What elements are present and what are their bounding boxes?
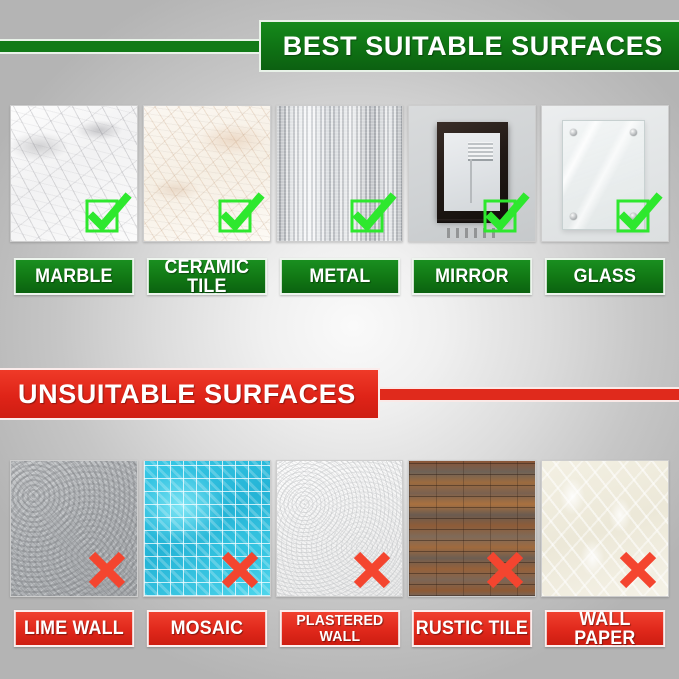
unsuitable-cell-mosaic <box>143 460 271 597</box>
unsuitable-cell-rustic-tile <box>408 460 536 597</box>
tile-image-glass <box>541 105 669 242</box>
unsuitable-cell-plastered-wall <box>276 460 404 597</box>
tile-image-metal <box>276 105 404 242</box>
cross-mark-icon <box>481 548 529 592</box>
label-marble: MARBLE <box>14 258 134 295</box>
unsuitable-banner-row: UNSUITABLE SURFACES <box>0 370 679 418</box>
suitable-tile-grid <box>10 105 669 242</box>
check-mark-icon <box>348 193 396 237</box>
unsuitable-heading: UNSUITABLE SURFACES <box>0 368 380 420</box>
label-glass: GLASS <box>545 258 665 295</box>
glass-screw-icon <box>630 129 637 136</box>
suitable-cell-ceramic-tile <box>143 105 271 242</box>
tile-image-mirror <box>408 105 536 242</box>
unsuitable-tile-grid <box>10 460 669 597</box>
unsuitable-cell-lime-wall <box>10 460 138 597</box>
cross-mark-icon <box>348 548 396 592</box>
tile-image-rustic-tile <box>408 460 536 597</box>
suitable-cell-marble <box>10 105 138 242</box>
infographic-poster: BEST SUITABLE SURFACES <box>0 0 679 679</box>
tile-image-ceramic-tile <box>143 105 271 242</box>
mirror-reflection-pane <box>470 159 472 203</box>
check-mark-icon <box>614 193 662 237</box>
label-plastered-wall: PLASTERED WALL <box>279 610 399 647</box>
tile-image-marble <box>10 105 138 242</box>
suitable-cell-mirror <box>408 105 536 242</box>
unsuitable-cell-wall-paper <box>541 460 669 597</box>
tile-image-plastered-wall <box>276 460 404 597</box>
label-wall-paper: WALL PAPER <box>545 610 665 647</box>
label-mosaic: MOSAIC <box>147 610 267 647</box>
check-mark-icon <box>83 193 131 237</box>
check-mark-icon <box>216 193 264 237</box>
suitable-cell-glass <box>541 105 669 242</box>
cross-mark-icon <box>83 548 131 592</box>
label-lime-wall: LIME WALL <box>14 610 134 647</box>
tile-image-mosaic <box>143 460 271 597</box>
suitable-cell-metal <box>276 105 404 242</box>
unsuitable-label-row: LIME WALL MOSAIC PLASTERED WALL RUSTIC T… <box>10 610 669 647</box>
glass-screw-icon <box>570 213 577 220</box>
cross-mark-icon <box>614 548 662 592</box>
label-rustic-tile: RUSTIC TILE <box>412 610 532 647</box>
label-metal: METAL <box>279 258 399 295</box>
tile-image-wall-paper <box>541 460 669 597</box>
red-rule-line <box>380 370 679 418</box>
suitable-banner-row: BEST SUITABLE SURFACES <box>0 22 679 70</box>
green-rule-line <box>0 22 259 70</box>
cross-mark-icon <box>216 548 264 592</box>
tile-image-lime-wall <box>10 460 138 597</box>
label-ceramic-tile: CERAMIC TILE <box>147 258 267 295</box>
suitable-label-row: MARBLE CERAMIC TILE METAL MIRROR GLASS <box>10 258 669 295</box>
label-mirror: MIRROR <box>412 258 532 295</box>
suitable-heading: BEST SUITABLE SURFACES <box>259 20 679 72</box>
check-mark-icon <box>481 193 529 237</box>
glass-screw-icon <box>570 129 577 136</box>
